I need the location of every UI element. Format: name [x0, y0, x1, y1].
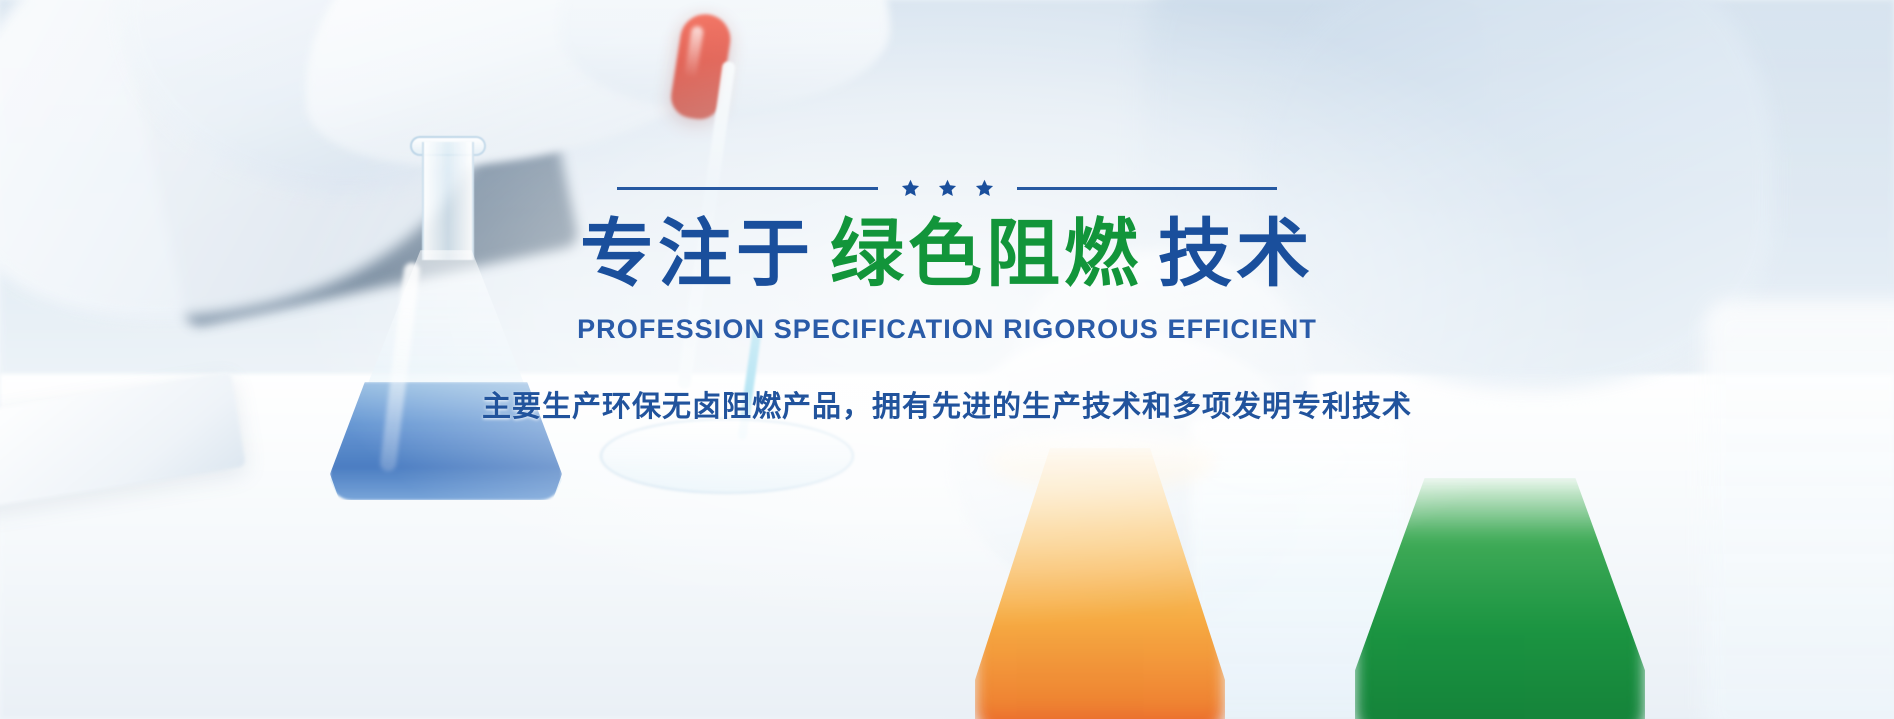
headline-part-2: 绿色阻燃: [830, 213, 1142, 296]
headline-part-1: 专注于: [580, 213, 814, 296]
headline-part-3: 技术: [1158, 213, 1314, 296]
headline: 专注于 绿色阻燃 技术: [580, 213, 1314, 296]
subtitle-english: PROFESSION SPECIFICATION RIGOROUS EFFICI…: [577, 314, 1317, 345]
divider-line-right: [1017, 187, 1278, 190]
star-icon: [937, 178, 958, 199]
star-icon: [974, 178, 995, 199]
banner-content: 专注于 绿色阻燃 技术 PROFESSION SPECIFICATION RIG…: [0, 0, 1894, 719]
star-group: [878, 178, 1017, 199]
star-icon: [900, 178, 921, 199]
divider-with-stars: [617, 178, 1277, 199]
divider-line-left: [617, 187, 878, 190]
tagline: 主要生产环保无卤阻燃产品，拥有先进的生产技术和多项发明专利技术: [482, 383, 1412, 425]
hero-banner: 专注于 绿色阻燃 技术 PROFESSION SPECIFICATION RIG…: [0, 0, 1894, 719]
